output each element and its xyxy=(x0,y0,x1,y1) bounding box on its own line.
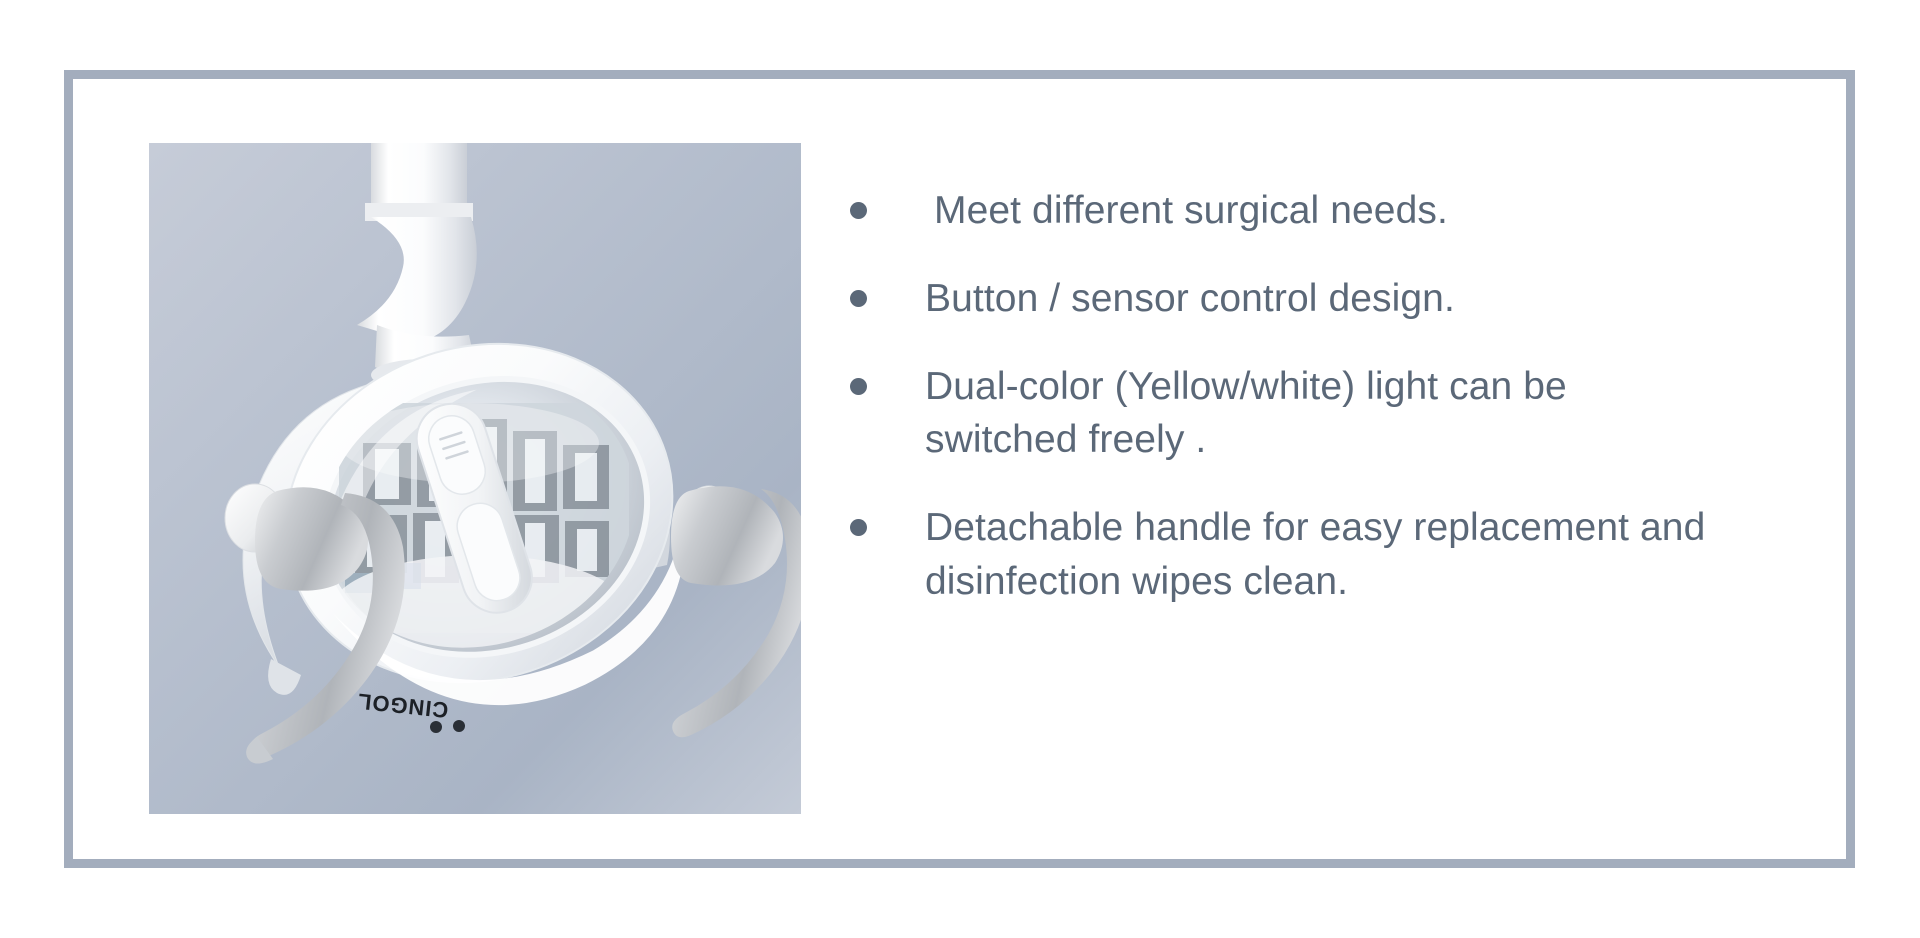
product-image: CINGOL xyxy=(149,143,801,814)
dental-lamp-illustration: CINGOL xyxy=(149,143,801,814)
feature-text: Detachable handle for easy replacement a… xyxy=(925,501,1800,609)
feature-text: Button / sensor control design. xyxy=(925,272,1800,326)
feature-text: Meet different surgical needs. xyxy=(925,184,1800,238)
bullet-icon xyxy=(850,519,867,536)
feature-list: Meet different surgical needs. Button / … xyxy=(850,184,1800,609)
feature-text: Dual-color (Yellow/white) light can be s… xyxy=(925,360,1800,468)
list-item: Dual-color (Yellow/white) light can be s… xyxy=(850,360,1800,468)
list-item: Meet different surgical needs. xyxy=(850,184,1800,238)
bullet-icon xyxy=(850,378,867,395)
slide-root: CINGOL Meet different surgical needs. xyxy=(0,0,1920,938)
list-item: Detachable handle for easy replacement a… xyxy=(850,501,1800,609)
bullet-icon xyxy=(850,290,867,307)
list-item: Button / sensor control design. xyxy=(850,272,1800,326)
bullet-icon xyxy=(850,202,867,219)
content-frame: CINGOL Meet different surgical needs. xyxy=(64,70,1855,868)
